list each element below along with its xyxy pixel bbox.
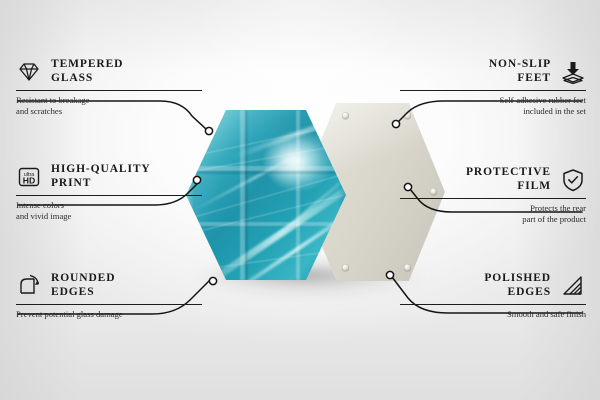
feature-description: Resistant to breakage and scratches [16, 95, 202, 116]
svg-text:HD: HD [23, 175, 35, 185]
feature-rounded-edges: ROUNDED EDGES Prevent potential glass da… [16, 272, 202, 320]
feature-divider [16, 90, 202, 91]
feature-header: NON-SLIP FEET [400, 58, 586, 85]
feature-tempered-glass: TEMPERED GLASS Resistant to breakage and… [16, 58, 202, 116]
front-panel-edge [186, 110, 346, 280]
feature-description: Intense colors and vivid image [16, 200, 202, 221]
rubber-foot [404, 264, 411, 271]
feature-description: Self-adhesive rubber feet included in th… [400, 95, 586, 116]
feature-description: Smooth and safe finish [400, 309, 586, 320]
rubber-foot [342, 112, 349, 119]
feature-title: POLISHED EDGES [484, 272, 551, 299]
feature-polished-edges: POLISHED EDGES Smooth and safe finish [400, 272, 586, 320]
feature-non-slip-feet: NON-SLIP FEET Self-adhesive rubber feet … [400, 58, 586, 116]
feature-header: ultra HD HIGH-QUALITY PRINT [16, 163, 202, 190]
feature-divider [400, 304, 586, 305]
feature-title: TEMPERED GLASS [51, 58, 123, 85]
feature-description: Protects the rear part of the product [400, 203, 586, 224]
front-panel-hexagon [186, 110, 346, 280]
shield-check-icon [560, 167, 586, 193]
feature-description: Prevent potential glass damage [16, 309, 202, 320]
feature-header: ROUNDED EDGES [16, 272, 202, 299]
rounded-corner-icon [16, 273, 42, 299]
infographic-canvas: TEMPERED GLASS Resistant to breakage and… [0, 0, 600, 400]
feature-divider [16, 195, 202, 196]
feature-title: HIGH-QUALITY PRINT [51, 163, 151, 190]
feature-header: POLISHED EDGES [400, 272, 586, 299]
feature-title: NON-SLIP FEET [489, 58, 551, 85]
ultra-hd-icon: ultra HD [16, 164, 42, 190]
feature-divider [400, 90, 586, 91]
hatched-triangle-icon [560, 273, 586, 299]
feature-high-quality-print: ultra HD HIGH-QUALITY PRINT Intense colo… [16, 163, 202, 221]
rubber-foot [342, 264, 349, 271]
feature-title: ROUNDED EDGES [51, 272, 115, 299]
feature-divider [16, 304, 202, 305]
diamond-icon [16, 59, 42, 85]
feature-header: TEMPERED GLASS [16, 58, 202, 85]
press-pad-icon [560, 59, 586, 85]
feature-divider [400, 198, 586, 199]
feature-protective-film: PROTECTIVE FILM Protects the rear part o… [400, 166, 586, 224]
feature-header: PROTECTIVE FILM [400, 166, 586, 193]
feature-title: PROTECTIVE FILM [466, 166, 551, 193]
